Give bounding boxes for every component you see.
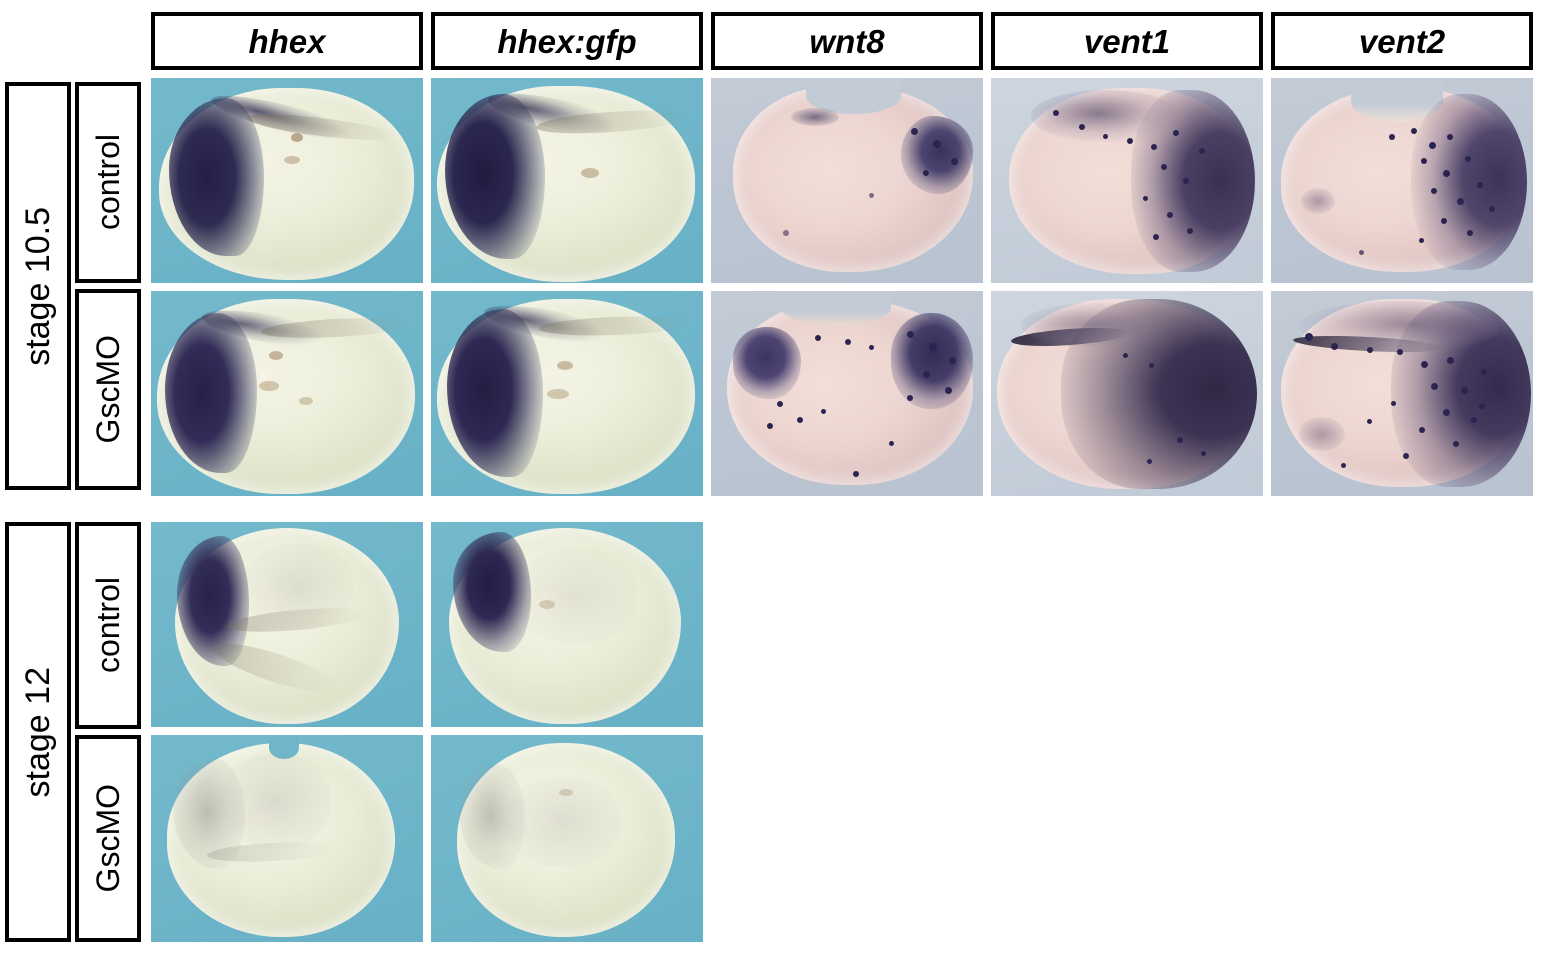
stain-domain-left <box>733 327 801 399</box>
stain-punctum <box>1147 459 1152 464</box>
pigment-speck <box>557 361 573 370</box>
pigment-patch <box>1299 417 1345 451</box>
stain-punctum <box>1367 347 1373 353</box>
stain-punctum <box>1305 333 1313 341</box>
panel-stage105-gscmo-wnt8 <box>711 291 983 496</box>
stain-punctum <box>1103 134 1108 139</box>
stain-domain-ventral <box>1411 94 1527 270</box>
column-header-hhexgfp: hhex:gfp <box>431 12 703 70</box>
stain-punctum <box>951 158 958 165</box>
stain-punctum <box>767 423 773 429</box>
pigment-speck <box>269 351 283 360</box>
figure-panel-grid: hhex hhex:gfp wnt8 vent1 vent2 stage 10.… <box>0 0 1541 957</box>
stain-punctum <box>1397 349 1403 355</box>
panel-stage105-gscmo-hhex <box>151 291 423 496</box>
stain-punctum <box>929 343 937 351</box>
stain-punctum <box>945 387 952 394</box>
stain-punctum <box>1419 238 1424 243</box>
panel-stage105-control-hhexgfp <box>431 78 703 283</box>
stain-punctum <box>1471 417 1477 423</box>
stain-punctum <box>853 471 859 477</box>
pigment-speck <box>547 389 569 399</box>
stain-punctum <box>815 335 821 341</box>
stain-punctum <box>1079 124 1085 130</box>
stain-punctum <box>1465 156 1471 162</box>
panel-stage105-control-hhex <box>151 78 423 283</box>
stain-punctum <box>1187 228 1193 234</box>
panel-stage105-gscmo-hhexgfp <box>431 291 703 496</box>
pigment-speck <box>299 397 313 405</box>
stain-punctum <box>821 409 826 414</box>
pigment-patch <box>1301 188 1335 214</box>
stain-punctum <box>869 345 874 350</box>
pigment-speck <box>559 789 573 796</box>
stain-punctum <box>1443 409 1450 416</box>
stain-punctum <box>1431 383 1438 390</box>
stain-punctum <box>1443 170 1450 177</box>
stain-punctum <box>923 170 929 176</box>
condition-label-stage105-gscmo: GscMO <box>75 289 141 490</box>
stain-punctum <box>1419 427 1425 433</box>
stain-punctum <box>1143 196 1148 201</box>
stain-punctum <box>869 193 874 198</box>
column-header-label: hhex <box>248 25 325 58</box>
stain-punctum <box>1359 250 1364 255</box>
stain-punctum <box>1199 148 1205 154</box>
condition-label-stage12-control: control <box>75 522 141 729</box>
stain-punctum <box>1429 142 1436 149</box>
condition-label-text: control <box>92 577 124 673</box>
pigment-speck <box>291 133 303 142</box>
stain-punctum <box>1457 198 1464 205</box>
column-header-label: hhex:gfp <box>497 25 636 58</box>
stain-punctum <box>1341 463 1346 468</box>
stain-domain-right <box>891 313 973 409</box>
embryo-shadow <box>221 753 331 849</box>
stain-punctum <box>1467 230 1473 236</box>
condition-label-stage12-gscmo: GscMO <box>75 735 141 942</box>
stain-punctum <box>1151 144 1157 150</box>
stain-punctum <box>1441 218 1447 224</box>
stain-punctum <box>1391 401 1396 406</box>
stain-punctum <box>1489 206 1495 212</box>
embryo-shadow <box>243 544 353 630</box>
column-header-label: vent1 <box>1084 25 1170 58</box>
condition-label-text: control <box>92 134 124 230</box>
column-header-wnt8: wnt8 <box>711 12 983 70</box>
stain-punctum <box>777 401 783 407</box>
stain-dorsal-spot <box>791 108 839 126</box>
stain-punctum <box>845 339 851 345</box>
panel-stage12-control-hhex <box>151 522 423 727</box>
stain-punctum <box>1201 451 1206 456</box>
stain-punctum <box>1177 437 1183 443</box>
stain-punctum <box>1477 182 1483 188</box>
column-header-vent2: vent2 <box>1271 12 1533 70</box>
column-header-vent1: vent1 <box>991 12 1263 70</box>
stain-punctum <box>1053 110 1059 116</box>
stage-label-10-5: stage 10.5 <box>5 82 71 490</box>
panel-stage12-gscmo-hhex <box>151 735 423 942</box>
stage-label-text: stage 12 <box>21 667 55 797</box>
stain-punctum <box>1167 212 1173 218</box>
stain-punctum <box>907 331 914 338</box>
stain-punctum <box>1461 387 1468 394</box>
stain-punctum <box>933 140 941 148</box>
stain-punctum <box>1389 134 1395 140</box>
stain-punctum <box>1367 419 1372 424</box>
stain-punctum <box>1127 138 1133 144</box>
panel-stage105-control-wnt8 <box>711 78 983 283</box>
stain-punctum <box>1421 158 1427 164</box>
stain-punctum <box>1183 178 1189 184</box>
stain-punctum <box>1421 361 1428 368</box>
stain-punctum <box>1123 353 1128 358</box>
stain-punctum <box>1431 188 1437 194</box>
stain-punctum <box>949 357 956 364</box>
stain-punctum <box>797 417 803 423</box>
stain-punctum <box>1447 357 1454 364</box>
condition-label-stage105-control: control <box>75 82 141 283</box>
stain-punctum <box>1479 403 1485 409</box>
stain-punctum <box>1481 369 1487 375</box>
stage-label-text: stage 10.5 <box>21 207 55 366</box>
stain-dorsal-cap <box>1021 303 1171 347</box>
stain-punctum <box>907 395 913 401</box>
pigment-speck <box>539 600 555 609</box>
condition-label-text: GscMO <box>92 784 124 892</box>
panel-stage105-control-vent2 <box>1271 78 1533 283</box>
pigment-speck <box>284 156 300 164</box>
panel-stage12-control-hhexgfp <box>431 522 703 727</box>
stain-punctum <box>1149 363 1154 368</box>
condition-label-text: GscMO <box>92 335 124 443</box>
panel-stage105-control-vent1 <box>991 78 1263 283</box>
stain-punctum <box>1153 234 1159 240</box>
embryo-blastopore-notch <box>781 291 891 325</box>
stain-punctum <box>1411 128 1417 134</box>
column-header-label: vent2 <box>1359 25 1445 58</box>
stain-punctum <box>1447 134 1453 140</box>
stain-punctum <box>1161 164 1167 170</box>
stain-punctum <box>1403 453 1409 459</box>
stain-punctum <box>923 371 930 378</box>
panel-stage105-gscmo-vent1 <box>991 291 1263 496</box>
panel-stage12-gscmo-hhexgfp <box>431 735 703 942</box>
pigment-speck <box>259 381 279 391</box>
panel-stage105-gscmo-vent2 <box>1271 291 1533 496</box>
pigment-speck <box>581 168 599 178</box>
stain-punctum <box>1331 343 1338 350</box>
embryo-shadow <box>517 548 637 644</box>
stage-label-12: stage 12 <box>5 522 71 942</box>
stain-punctum <box>911 128 918 135</box>
column-header-label: wnt8 <box>809 25 884 58</box>
stain-punctum <box>889 441 894 446</box>
column-header-hhex: hhex <box>151 12 423 70</box>
stain-punctum <box>783 230 789 236</box>
stain-punctum <box>1173 130 1179 136</box>
stain-punctum <box>1453 441 1459 447</box>
